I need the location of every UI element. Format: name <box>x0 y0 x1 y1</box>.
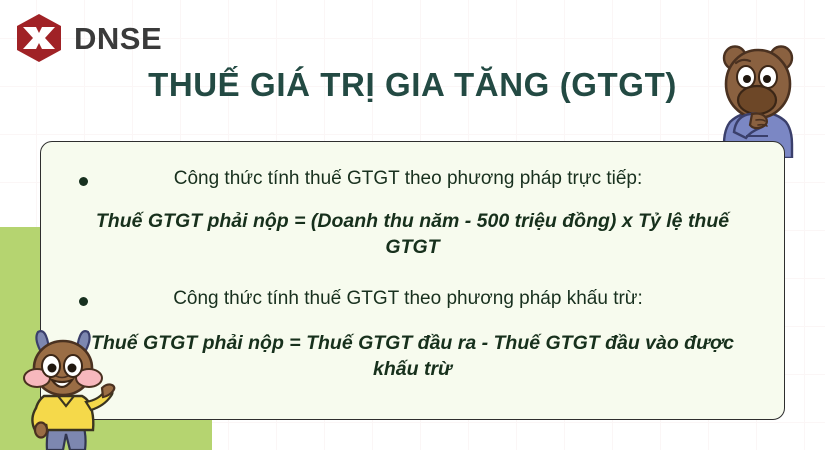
page-title: THUẾ GIÁ TRỊ GIA TĂNG (GTGT) <box>0 66 825 104</box>
dnse-hexagon-logo-icon <box>16 13 62 63</box>
bullet-dot-icon <box>79 177 88 186</box>
list-item: Công thức tính thuế GTGT theo phương phá… <box>71 286 754 312</box>
bullet-text: Công thức tính thuế GTGT theo phương phá… <box>88 166 754 192</box>
formula-deduction-method: Thuế GTGT phải nộp = Thuế GTGT đầu ra - … <box>71 330 754 383</box>
slide-canvas: DNSE THUẾ GIÁ TRỊ GIA TĂNG (GTGT) <box>0 0 825 450</box>
list-item: Công thức tính thuế GTGT theo phương phá… <box>71 166 754 192</box>
pointing-buffalo-mascot <box>10 326 122 450</box>
content-card: Công thức tính thuế GTGT theo phương phá… <box>40 141 785 420</box>
brand-name: DNSE <box>74 23 162 54</box>
bullet-text: Công thức tính thuế GTGT theo phương phá… <box>88 286 754 312</box>
formula-direct-method: Thuế GTGT phải nộp = (Doanh thu năm - 50… <box>71 208 754 261</box>
bullet-dot-icon <box>79 297 88 306</box>
brand-logo-group: DNSE <box>16 13 162 63</box>
